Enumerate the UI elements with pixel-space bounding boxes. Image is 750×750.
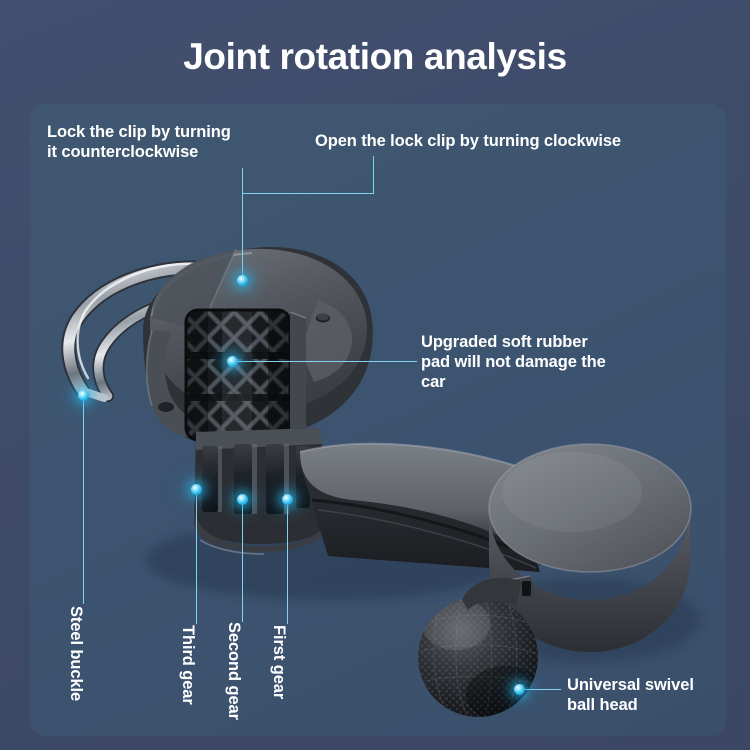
- product-illustration: [0, 0, 750, 750]
- marker-dot-lock-clip: [237, 275, 248, 286]
- marker-dot-rubber-pad: [227, 356, 238, 367]
- callout-label-open-clip: Open the lock clip by turning clockwise: [315, 131, 665, 151]
- marker-dot-third-gear: [191, 484, 202, 495]
- infographic-canvas: Joint rotation analysis: [0, 0, 750, 750]
- marker-dot-steel-buckle: [78, 390, 89, 401]
- callout-label-ball-head: Universal swivel ball head: [567, 675, 742, 715]
- leader-line-lock-clip: [242, 168, 243, 280]
- marker-dot-ball-head: [514, 684, 525, 695]
- marker-dot-first-gear: [282, 494, 293, 505]
- callout-label-lock-clip: Lock the clip by turning it counterclock…: [47, 122, 277, 162]
- textured-rubber-pad: [186, 310, 306, 440]
- leader-line-open-clip-vert: [373, 156, 374, 194]
- callout-label-second-gear: Second gear: [224, 622, 243, 720]
- leader-line-steel-buckle: [83, 396, 84, 604]
- callout-label-steel-buckle: Steel buckle: [66, 606, 85, 701]
- marker-dot-second-gear: [237, 494, 248, 505]
- callout-label-third-gear: Third gear: [178, 625, 197, 705]
- leader-line-second-gear: [242, 500, 243, 622]
- callout-label-first-gear: First gear: [269, 625, 288, 699]
- leader-line-first-gear: [287, 500, 288, 624]
- callout-label-rubber-pad: Upgraded soft rubber pad will not damage…: [421, 332, 636, 392]
- leader-line-third-gear: [196, 490, 197, 624]
- leader-line-rubber-pad: [232, 361, 417, 362]
- leader-line-open-clip-horz: [242, 193, 374, 194]
- leader-line-ball-head: [519, 689, 561, 690]
